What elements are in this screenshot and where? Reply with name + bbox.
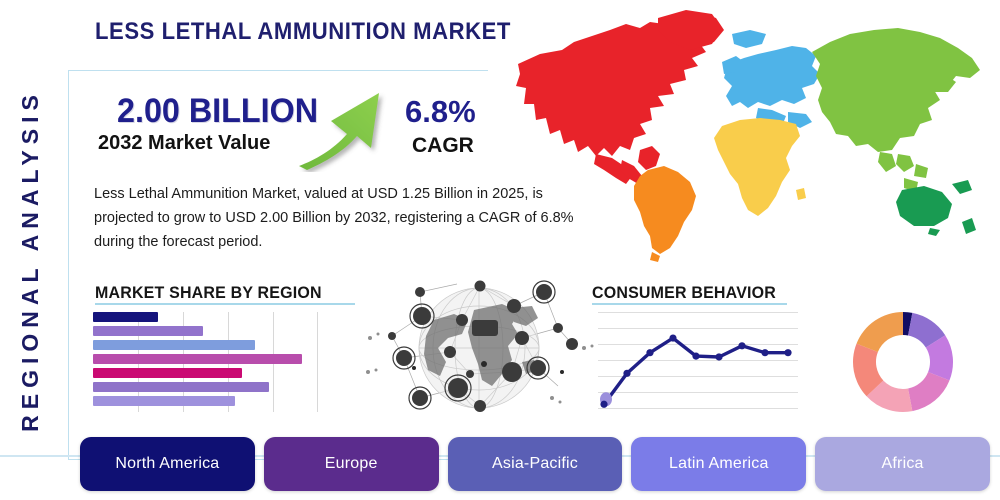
market-share-rule (95, 303, 355, 305)
world-map-icon (500, 4, 1000, 266)
page-title: LESS LETHAL AMMUNITION MARKET (95, 18, 511, 46)
bar-0 (93, 312, 158, 322)
growth-arrow-icon (295, 90, 405, 172)
vertical-section-label: REGIONAL ANALYSIS (4, 60, 56, 460)
cagr-caption: CAGR (412, 134, 474, 158)
vertical-section-label-text: REGIONAL ANALYSIS (17, 89, 44, 432)
market-value-number: 2.00 BILLION (117, 92, 318, 131)
region-button-group: North AmericaEuropeAsia-PacificLatin Ame… (80, 437, 990, 491)
consumer-behavior-section-title: CONSUMER BEHAVIOR (592, 283, 776, 303)
region-button-africa[interactable]: Africa (815, 437, 990, 491)
bar-row (93, 326, 203, 336)
bar-row (93, 340, 255, 350)
market-share-section-title: MARKET SHARE BY REGION (95, 283, 322, 303)
bar-3 (93, 354, 302, 364)
bar-5 (93, 382, 269, 392)
consumer-behavior-line-chart (598, 312, 798, 412)
region-button-asia-pacific[interactable]: Asia-Pacific (448, 437, 623, 491)
market-share-bar-chart (93, 312, 318, 412)
bar-1 (93, 326, 203, 336)
bar-row (93, 382, 269, 392)
bar-6 (93, 396, 235, 406)
region-button-europe[interactable]: Europe (264, 437, 439, 491)
cagr-number: 6.8% (405, 94, 476, 130)
bar-row (93, 396, 235, 406)
region-button-label: North America (115, 455, 219, 473)
market-value-caption: 2032 Market Value (98, 132, 270, 155)
region-button-label: Latin America (669, 455, 769, 473)
donut-slice (857, 312, 903, 352)
region-button-label: Europe (325, 455, 378, 473)
bar-row (93, 312, 158, 322)
bar-2 (93, 340, 255, 350)
bar-row (93, 368, 242, 378)
region-button-label: Africa (882, 455, 924, 473)
consumer-behavior-rule (592, 303, 787, 305)
segment-donut-chart (849, 308, 957, 416)
global-network-globe-icon (362, 276, 597, 424)
bar-4 (93, 368, 242, 378)
region-button-label: Asia-Pacific (492, 455, 578, 473)
bar-row (93, 354, 302, 364)
region-button-north-america[interactable]: North America (80, 437, 255, 491)
region-button-latin-america[interactable]: Latin America (631, 437, 806, 491)
hero-stats: 2.00 BILLION 2032 Market Value 6.8% CAGR (95, 92, 495, 170)
